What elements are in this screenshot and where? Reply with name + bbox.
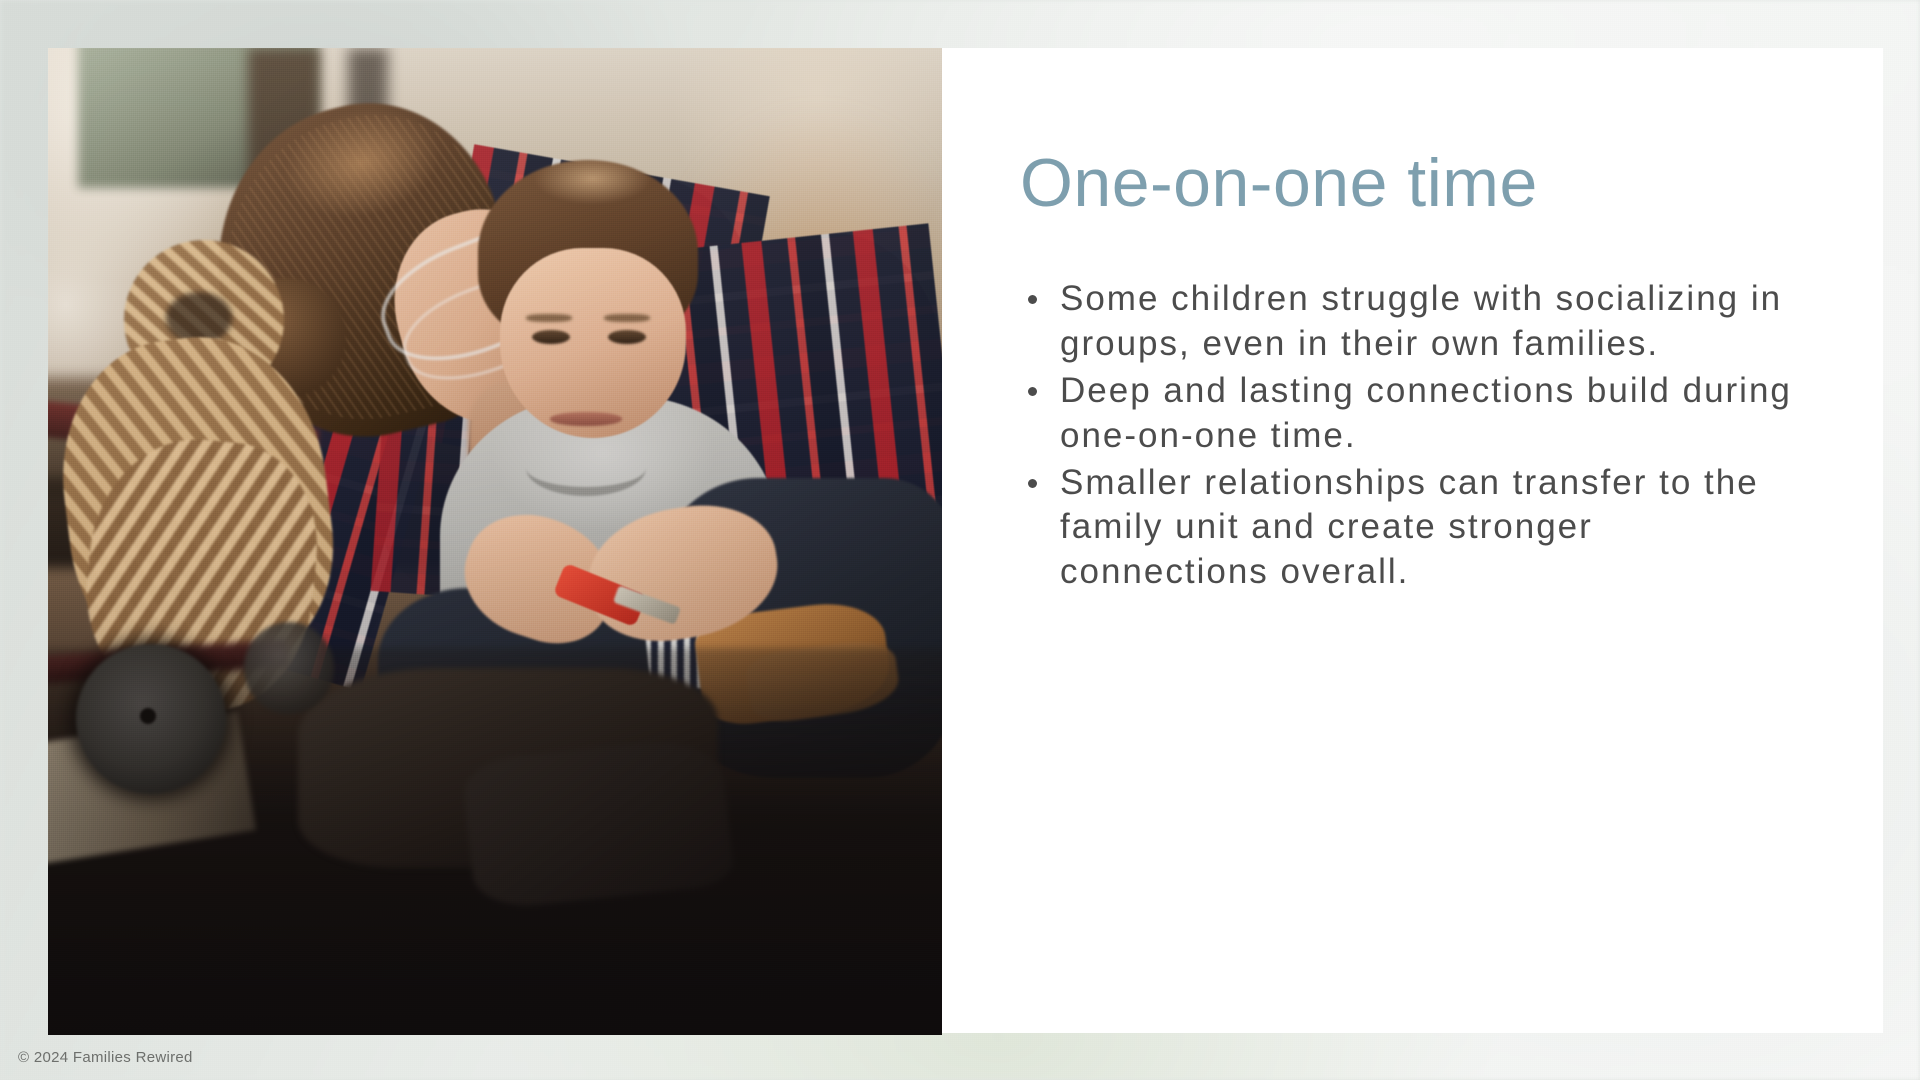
bullet-list: Some children struggle with socializing … — [1020, 277, 1810, 595]
list-item: Smaller relationships can transfer to th… — [1020, 461, 1810, 595]
copyright-footer: © 2024 Families Rewired — [18, 1049, 193, 1066]
presentation-slide: One-on-one time Some children struggle w… — [0, 0, 1920, 1080]
slide-title: One-on-one time — [1020, 148, 1810, 219]
text-block: One-on-one time Some children struggle w… — [1020, 148, 1810, 597]
bullet-dot-icon — [1028, 479, 1037, 488]
list-item: Deep and lasting connections build durin… — [1020, 369, 1810, 459]
list-item-text: Some children struggle with socializing … — [1060, 279, 1782, 363]
content-panel: One-on-one time Some children struggle w… — [942, 48, 1883, 1033]
bullet-dot-icon — [1028, 387, 1037, 396]
list-item-text: Smaller relationships can transfer to th… — [1060, 463, 1759, 592]
photo-grain — [48, 48, 942, 1035]
list-item-text: Deep and lasting connections build durin… — [1060, 371, 1792, 455]
slide-photo — [48, 48, 942, 1035]
bullet-dot-icon — [1028, 295, 1037, 304]
list-item: Some children struggle with socializing … — [1020, 277, 1810, 367]
